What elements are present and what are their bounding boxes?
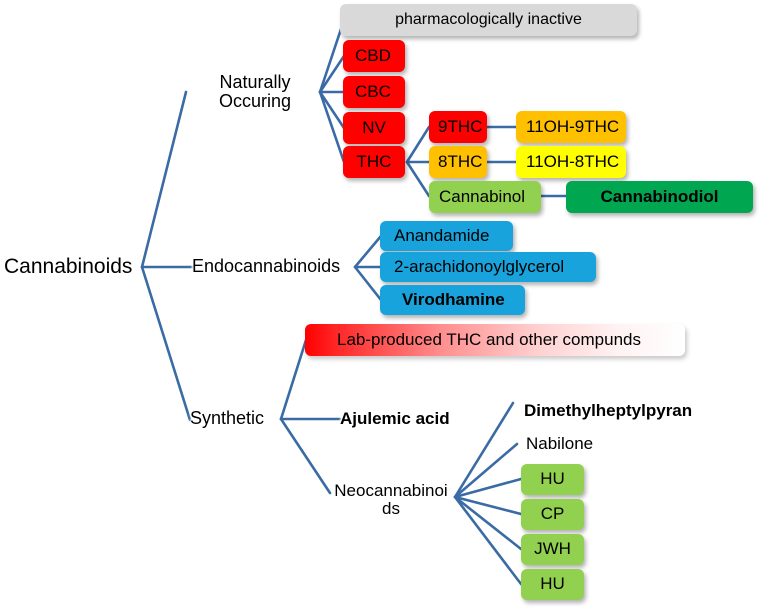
node-hu-2[interactable]: HU [521, 569, 584, 600]
node-virodhamine[interactable]: Virodhamine [380, 285, 525, 315]
node-cp[interactable]: CP [521, 499, 584, 530]
node-label-anandamide: Anandamide [394, 227, 489, 245]
node-cannabinol[interactable]: Cannabinol [429, 181, 541, 213]
node-label-jwh: JWH [534, 540, 571, 558]
root-label: Cannabinoids [4, 256, 132, 279]
edge-synthetic-neocannabinoids [281, 419, 330, 493]
node-lab-produced-thc[interactable]: Lab-produced THC and other compunds [305, 324, 685, 356]
node-label-neocannabinoids: Neocannabinoi ds [334, 482, 447, 519]
node-label-cbd: CBD [355, 47, 391, 65]
node-label-dimethylheptylpyran: Dimethylheptylpyran [524, 402, 692, 420]
branch-label-synthetic: Synthetic [190, 409, 264, 428]
node-cannabinodiol[interactable]: Cannabinodiol [566, 181, 753, 213]
edge-natural-thc [320, 92, 344, 162]
node-cbc[interactable]: CBC [343, 76, 405, 108]
node-ajulemic-acid[interactable]: Ajulemic acid [340, 405, 500, 433]
node-label-pharmacologically-inactive: pharmacologically inactive [395, 11, 582, 28]
node-11oh-9thc[interactable]: 11OH-9THC [516, 111, 626, 143]
node-label-hu-2: HU [540, 575, 565, 593]
node-label-nv: NV [362, 119, 386, 137]
branch-label-naturally-occuring: Naturally Occuring [219, 73, 291, 112]
node-label-hu-1: HU [540, 470, 565, 488]
node-8thc[interactable]: 8THC [429, 146, 487, 178]
node-jwh[interactable]: JWH [521, 534, 584, 565]
edge-synthetic-lab [281, 340, 306, 419]
node-label-lab-produced-thc: Lab-produced THC and other compunds [337, 331, 641, 349]
node-label-cannabinodiol: Cannabinodiol [600, 188, 718, 206]
node-anandamide[interactable]: Anandamide [380, 221, 513, 251]
diagram-canvas: Cannabinoids Naturally Occuring Endocann… [0, 0, 759, 612]
node-pharmacologically-inactive[interactable]: pharmacologically inactive [340, 4, 637, 36]
node-label-11oh-8thc: 11OH-8THC [526, 153, 619, 171]
node-cbd[interactable]: CBD [343, 40, 405, 72]
edge-endo-virodhamine [355, 267, 381, 300]
root-node-cannabinoids[interactable]: Cannabinoids [4, 250, 142, 284]
node-nv[interactable]: NV [343, 112, 405, 144]
node-thc[interactable]: THC [343, 146, 405, 178]
edge-thc-9thc [407, 127, 429, 162]
edge-root-synthetic [142, 267, 190, 420]
edge-natural-nv [320, 92, 344, 128]
branch-node-endocannabinoids[interactable]: Endocannabinoids [192, 252, 356, 282]
node-11oh-8thc[interactable]: 11OH-8THC [516, 146, 626, 178]
branch-node-synthetic[interactable]: Synthetic [190, 404, 282, 434]
node-label-cannabinol: Cannabinol [439, 188, 525, 206]
node-label-2-arachidonoylglycerol: 2-arachidonoylglycerol [394, 258, 564, 276]
node-dimethylheptylpyran[interactable]: Dimethylheptylpyran [524, 398, 724, 424]
node-label-thc: THC [357, 153, 392, 171]
node-hu-1[interactable]: HU [521, 464, 584, 495]
node-label-virodhamine: Virodhamine [402, 291, 505, 309]
node-label-8thc: 8THC [438, 153, 482, 171]
node-label-nabilone: Nabilone [526, 435, 593, 453]
branch-label-endocannabinoids: Endocannabinoids [192, 257, 340, 276]
node-label-9thc: 9THC [438, 118, 482, 136]
node-2-arachidonoylglycerol[interactable]: 2-arachidonoylglycerol [380, 252, 596, 282]
edge-thc-cannabinol [407, 162, 429, 196]
edge-root-natural [142, 92, 186, 267]
node-label-11oh-9thc: 11OH-9THC [526, 118, 619, 136]
node-label-ajulemic-acid: Ajulemic acid [340, 410, 450, 428]
node-9thc[interactable]: 9THC [429, 111, 487, 143]
branch-node-naturally-occuring[interactable]: Naturally Occuring [192, 62, 318, 122]
node-label-cbc: CBC [355, 83, 391, 101]
node-nabilone[interactable]: Nabilone [526, 431, 646, 457]
node-neocannabinoids[interactable]: Neocannabinoi ds [330, 479, 452, 521]
edge-natural-cbd [320, 56, 344, 92]
edge-endo-anandamide [355, 236, 381, 267]
node-label-cp: CP [541, 505, 565, 523]
